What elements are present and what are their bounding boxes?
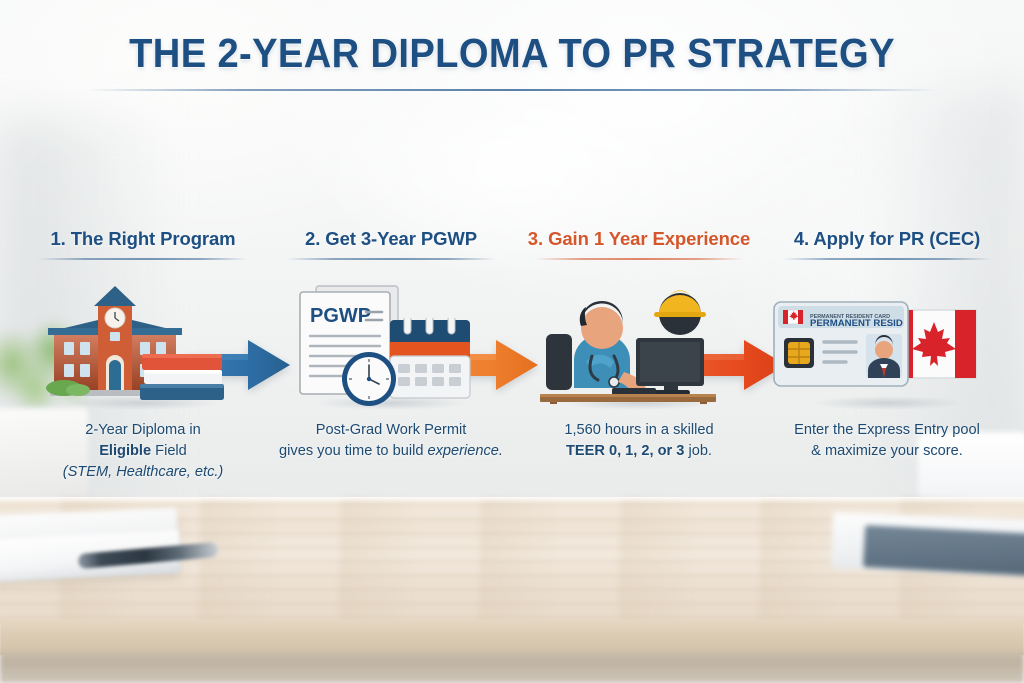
step-1-caption-bold: Eligible [99, 443, 151, 459]
step-1-artwork [18, 274, 268, 404]
step-3-caption-line2: TEER 0, 1, 2, or 3 job. [514, 441, 764, 462]
steps-row: 1. The Right Program [0, 228, 1024, 508]
step-3-artwork [514, 274, 764, 404]
step-4-caption-line1: Enter the Express Entry pool [762, 420, 1012, 441]
step-3-heading: 3. Gain 1 Year Experience [514, 228, 764, 250]
pgwp-label: PGWP [310, 305, 371, 327]
clock-icon [340, 350, 398, 408]
calendar-icon [386, 318, 474, 400]
page-title: THE 2-YEAR DIPLOMA TO PR STRATEGY [36, 30, 988, 77]
hard-hat-icon [654, 290, 706, 335]
step-2-caption: Post-Grad Work Permit gives you time to … [266, 420, 516, 462]
step-4-artwork: PERMANENT RESIDENT CARD PERMANENT RESID [762, 274, 1012, 404]
step-1-caption-italic: (STEM, Healthcare, etc.) [63, 464, 224, 480]
step-1-heading: 1. The Right Program [18, 228, 268, 250]
step-3-caption-bold: TEER 0, 1, 2, or 3 [566, 443, 684, 459]
step-4-ground-shadow [812, 396, 962, 410]
step-1-caption-rest: Field [151, 443, 187, 459]
step-2-caption-line1: Post-Grad Work Permit [266, 420, 516, 441]
step-2-caption-rest: gives you time to build [279, 443, 427, 459]
pr-card-title: PERMANENT RESID [810, 318, 903, 329]
step-1-underline [39, 258, 247, 260]
step-4: 4. Apply for PR (CEC) PERMANENT RESIDENT [762, 228, 1012, 462]
step-3-underline [535, 258, 743, 260]
step-2-heading: 2. Get 3-Year PGWP [266, 228, 516, 250]
pr-card-icon: PERMANENT RESIDENT CARD PERMANENT RESID [772, 298, 912, 390]
step-3: 3. Gain 1 Year Experience [514, 228, 764, 462]
stacked-books-icon [136, 348, 228, 404]
step-3-caption-line1: 1,560 hours in a skilled [514, 420, 764, 441]
step-2: 2. Get 3-Year PGWP PGWP [266, 228, 516, 462]
step-4-underline [783, 258, 991, 260]
step-2-artwork: PGWP [266, 274, 516, 404]
step-1-caption-line2: Eligible Field [18, 441, 268, 462]
step-4-caption: Enter the Express Entry pool & maximize … [762, 420, 1012, 462]
step-2-caption-italic: experience. [428, 443, 503, 459]
step-1-caption-line3: (STEM, Healthcare, etc.) [18, 462, 268, 483]
step-3-caption-rest: job. [684, 443, 712, 459]
step-1: 1. The Right Program [18, 228, 268, 483]
worker-at-desk-icon [528, 276, 728, 404]
step-1-caption: 2-Year Diploma in Eligible Field (STEM, … [18, 420, 268, 483]
step-4-caption-line2: & maximize your score. [762, 441, 1012, 462]
step-1-caption-line1: 2-Year Diploma in [18, 420, 268, 441]
step-3-caption: 1,560 hours in a skilled TEER 0, 1, 2, o… [514, 420, 764, 462]
step-2-caption-line2: gives you time to build experience. [266, 441, 516, 462]
step-4-heading: 4. Apply for PR (CEC) [762, 228, 1012, 250]
title-divider [88, 89, 936, 91]
step-2-underline [287, 258, 495, 260]
